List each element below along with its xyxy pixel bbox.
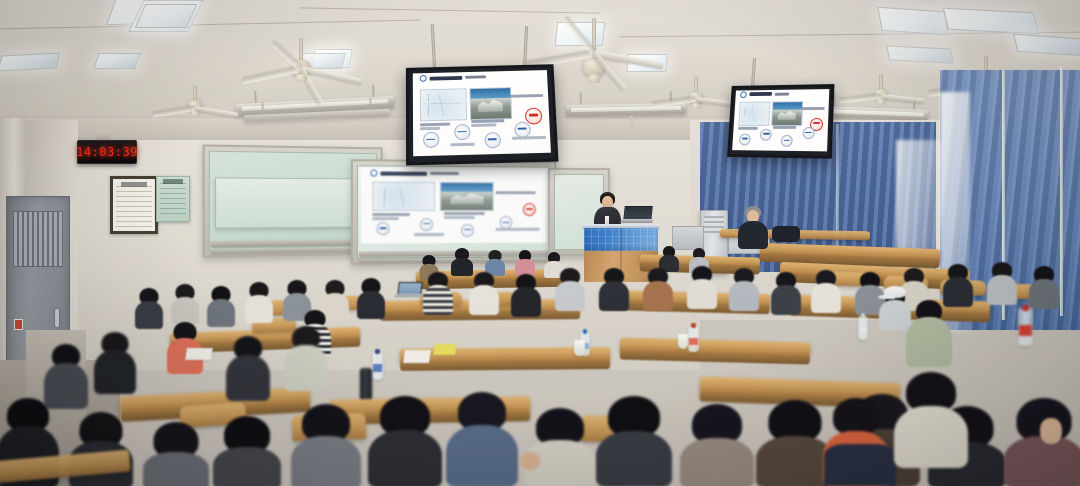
presenter-laptop <box>624 206 650 223</box>
thermos-flask <box>360 368 372 402</box>
student <box>470 272 498 312</box>
ceiling-fan <box>236 38 366 94</box>
white-cap-icon <box>884 286 906 298</box>
slide-bullet-icon <box>371 170 378 177</box>
door-handle[interactable] <box>55 309 59 327</box>
student <box>424 272 452 312</box>
slide-caption <box>444 216 475 219</box>
student <box>46 344 86 404</box>
bag-on-desk <box>772 226 800 242</box>
student <box>944 264 972 304</box>
framed-notice <box>110 176 158 234</box>
student <box>372 396 438 486</box>
student-with-cap <box>880 286 910 328</box>
seated-attendee-senior <box>738 206 768 248</box>
slide-title-text <box>381 171 427 175</box>
student <box>684 404 750 486</box>
water-bottle <box>688 326 699 352</box>
ceiling-light-panel <box>93 53 141 69</box>
paper-notes <box>433 344 457 355</box>
student-laptop <box>398 282 420 297</box>
student <box>730 268 758 308</box>
slide-caption <box>414 233 444 236</box>
slide-logo-icon <box>376 222 389 235</box>
student <box>208 286 234 324</box>
slide-caption <box>372 217 398 220</box>
hand <box>520 452 540 470</box>
student <box>136 288 162 326</box>
student <box>172 284 198 322</box>
student <box>528 408 592 486</box>
student <box>660 246 678 270</box>
slide-photo-image <box>440 182 494 211</box>
student <box>168 322 202 372</box>
student <box>286 326 326 386</box>
led-wall-clock: 14:03:39 <box>77 140 137 164</box>
student <box>812 270 840 310</box>
student-jacket <box>824 444 896 486</box>
ceiling-fan <box>150 86 240 126</box>
slide-subtitle-text <box>430 172 458 175</box>
student <box>898 372 964 468</box>
student <box>772 272 800 312</box>
student <box>556 268 584 308</box>
water-bottle <box>1018 308 1033 346</box>
student <box>908 300 950 364</box>
student <box>452 248 472 274</box>
green-notice <box>156 176 190 222</box>
student <box>988 262 1016 302</box>
student <box>644 268 672 308</box>
student <box>450 392 514 486</box>
clock-time-display: 14:03:39 <box>76 145 138 159</box>
student <box>1030 266 1058 306</box>
student <box>294 404 358 486</box>
desk-row <box>620 338 810 358</box>
slide-caption <box>496 228 540 231</box>
student <box>486 250 504 274</box>
ceiling-light-panel <box>135 4 198 28</box>
student <box>246 282 272 320</box>
student <box>216 416 278 486</box>
window-mullion <box>1060 66 1063 316</box>
student <box>96 332 134 390</box>
paper-cup <box>574 340 585 356</box>
slide-red-badge <box>523 203 536 216</box>
slide-title-bar <box>361 168 546 179</box>
ceiling-light-panel <box>0 52 60 71</box>
student <box>146 422 206 486</box>
slide-caption <box>444 212 485 215</box>
student <box>688 266 716 306</box>
paper-notes <box>185 348 213 360</box>
ceiling-fan <box>836 74 926 114</box>
student <box>228 336 268 396</box>
door-louver-vent <box>13 211 63 267</box>
slide-caption <box>496 191 536 194</box>
projected-slide <box>361 168 546 243</box>
student <box>600 396 668 486</box>
water-bottle <box>372 352 383 380</box>
paper-notes <box>403 350 431 363</box>
ceiling-light-panel <box>877 7 948 36</box>
slide-map-image <box>372 182 434 211</box>
ceiling-display-right <box>727 84 834 159</box>
student <box>358 278 384 316</box>
student <box>516 250 534 274</box>
paper-cup <box>678 334 688 349</box>
student <box>600 268 628 308</box>
ceiling-display-left <box>406 64 559 165</box>
student <box>760 400 830 486</box>
hand <box>1040 418 1062 444</box>
slide-logo-icon <box>420 218 433 231</box>
student <box>512 274 540 314</box>
door-sticker <box>14 319 23 330</box>
slide-logo-icon <box>461 224 474 237</box>
slide-caption <box>372 213 410 216</box>
water-bottle <box>858 316 868 340</box>
lecture-hall-photograph: 14:03:39 <box>0 0 1080 486</box>
